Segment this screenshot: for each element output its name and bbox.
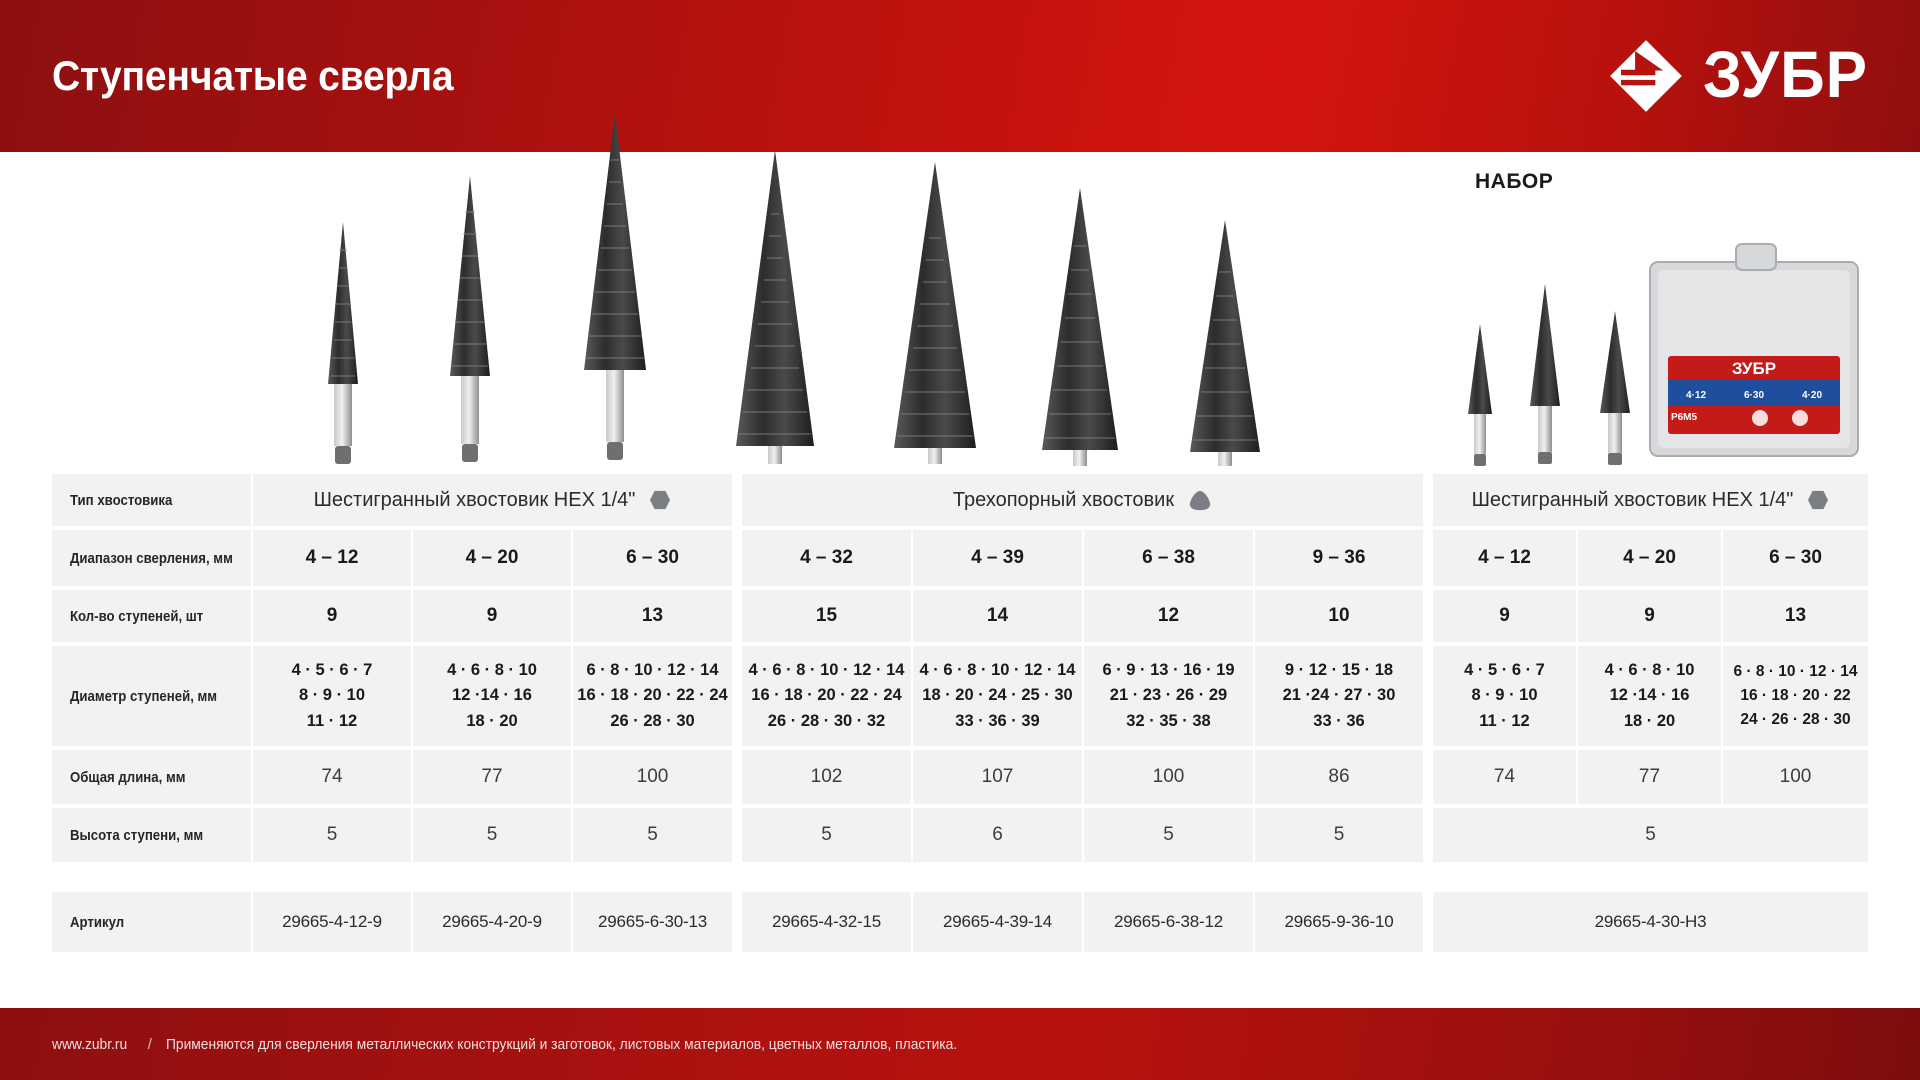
- len-r2: 77: [1578, 750, 1723, 804]
- row-drilling-range: Диапазон сверления, мм 4 – 12 4 – 20 6 –…: [52, 530, 1868, 586]
- dia-m1: 4 · 6 · 8 · 10 · 12 · 14 16 · 18 · 20 · …: [742, 646, 913, 746]
- range-m4: 9 – 36: [1255, 530, 1425, 586]
- range-l3: 6 – 30: [573, 530, 734, 586]
- range-r3: 6 – 30: [1723, 530, 1868, 586]
- footer-separator: /: [134, 1036, 166, 1053]
- page-header: Ступенчатые сверла ЗУБР: [0, 0, 1920, 152]
- drill-image-4-12: [300, 216, 386, 468]
- page-title: Ступенчатые сверла: [52, 52, 453, 100]
- drill-image-9-36: [1160, 206, 1290, 468]
- set-label: НАБОР: [1475, 170, 1553, 194]
- product-spec-sheet: Ступенчатые сверла ЗУБР: [0, 0, 1920, 1080]
- step-m2: 6: [913, 808, 1084, 862]
- step-right-merged: 5: [1433, 808, 1868, 862]
- svg-text:6·30: 6·30: [1744, 390, 1764, 401]
- row-shank-type: Тип хвостовика Шестигранный хвостовик HE…: [52, 474, 1868, 526]
- count-m2: 14: [913, 590, 1084, 642]
- specification-table: Тип хвостовика Шестигранный хвостовик HE…: [52, 474, 1868, 956]
- page-footer: www.zubr.ru / Применяются для сверления …: [0, 1008, 1920, 1080]
- count-m4: 10: [1255, 590, 1425, 642]
- hex-icon: [649, 490, 671, 510]
- set-drill-medium: [1510, 278, 1580, 468]
- count-r3: 13: [1723, 590, 1868, 642]
- shank-text-right: Шестигранный хвостовик HEX 1/4": [1472, 489, 1794, 512]
- shank-text-left: Шестигранный хвостовик HEX 1/4": [314, 489, 636, 512]
- len-m2: 107: [913, 750, 1084, 804]
- len-m1: 102: [742, 750, 913, 804]
- step-l3: 5: [573, 808, 734, 862]
- len-m3: 100: [1084, 750, 1255, 804]
- len-r1: 74: [1433, 750, 1578, 804]
- footer-note: Применяются для сверления металлических …: [166, 1036, 1026, 1053]
- drill-image-6-30: [550, 108, 680, 468]
- dia-l1: 4 · 5 · 6 · 7 8 · 9 · 10 11 · 12: [253, 646, 413, 746]
- row-overall-length: Общая длина, мм 74 77 100 102 107 100 86…: [52, 750, 1868, 804]
- dia-r1: 4 · 5 · 6 · 7 8 · 9 · 10 11 · 12: [1433, 646, 1578, 746]
- art-m1: 29665-4-32-15: [742, 892, 913, 952]
- trilobe-icon: [1188, 490, 1212, 511]
- range-r1: 4 – 12: [1433, 530, 1578, 586]
- row-step-height: Высота ступени, мм 5 5 5 5 6 5 5 5: [52, 808, 1868, 862]
- len-r3: 100: [1723, 750, 1868, 804]
- shank-value-middle: Трехопорный хвостовик: [742, 474, 1425, 526]
- art-m2: 29665-4-39-14: [913, 892, 1084, 952]
- svg-text:Р6М5: Р6М5: [1671, 412, 1698, 423]
- svg-text:4·12: 4·12: [1686, 390, 1706, 401]
- svg-text:4·20: 4·20: [1802, 390, 1822, 401]
- step-m3: 5: [1084, 808, 1255, 862]
- brand-name: ЗУБР: [1703, 45, 1868, 107]
- art-l1: 29665-4-12-9: [253, 892, 413, 952]
- range-l1: 4 – 12: [253, 530, 413, 586]
- dia-r3: 6 · 8 · 10 · 12 · 14 16 · 18 · 20 · 22 2…: [1723, 646, 1868, 746]
- step-m4: 5: [1255, 808, 1425, 862]
- shank-value-right: Шестигранный хвостовик HEX 1/4": [1433, 474, 1868, 526]
- drill-image-6-38: [1010, 178, 1150, 468]
- hex-icon: [1807, 490, 1829, 510]
- dia-l3: 6 · 8 · 10 · 12 · 14 16 · 18 · 20 · 22 ·…: [573, 646, 734, 746]
- step-l2: 5: [413, 808, 573, 862]
- zubr-diamond-icon: [1607, 37, 1685, 115]
- count-m3: 12: [1084, 590, 1255, 642]
- row-step-diameters: Диаметр ступеней, мм 4 · 5 · 6 · 7 8 · 9…: [52, 646, 1868, 746]
- drill-image-4-39: [860, 156, 1010, 468]
- art-m3: 29665-6-38-12: [1084, 892, 1255, 952]
- row-step-count: Кол-во ступеней, шт 9 9 13 15 14 12 10 9…: [52, 590, 1868, 642]
- count-r2: 9: [1578, 590, 1723, 642]
- brand-logo: ЗУБР: [1607, 37, 1868, 115]
- range-l2: 4 – 20: [413, 530, 573, 586]
- drill-image-4-20: [420, 168, 520, 468]
- row-label-step-height: Высота ступени, мм: [52, 808, 253, 862]
- range-m1: 4 – 32: [742, 530, 913, 586]
- len-l3: 100: [573, 750, 734, 804]
- art-l3: 29665-6-30-13: [573, 892, 734, 952]
- len-l2: 77: [413, 750, 573, 804]
- set-case-image: ЗУБР 4·12 6·30 4·20 Р6М5: [1640, 238, 1870, 468]
- row-article: Артикул 29665-4-12-9 29665-4-20-9 29665-…: [52, 892, 1868, 952]
- dia-m4: 9 · 12 · 15 · 18 21 ·24 · 27 · 30 33 · 3…: [1255, 646, 1425, 746]
- row-label-length: Общая длина, мм: [52, 750, 253, 804]
- step-l1: 5: [253, 808, 413, 862]
- range-r2: 4 – 20: [1578, 530, 1723, 586]
- dia-r2: 4 · 6 · 8 · 10 12 ·14 · 16 18 · 20: [1578, 646, 1723, 746]
- art-m4: 29665-9-36-10: [1255, 892, 1425, 952]
- step-m1: 5: [742, 808, 913, 862]
- footer-site[interactable]: www.zubr.ru: [52, 1036, 134, 1053]
- row-label-article: Артикул: [52, 892, 253, 952]
- len-l1: 74: [253, 750, 413, 804]
- dia-m3: 6 · 9 · 13 · 16 · 19 21 · 23 · 26 · 29 3…: [1084, 646, 1255, 746]
- count-r1: 9: [1433, 590, 1578, 642]
- row-label-count: Кол-во ступеней, шт: [52, 590, 253, 642]
- dia-l2: 4 · 6 · 8 · 10 12 ·14 · 16 18 · 20: [413, 646, 573, 746]
- dia-m2: 4 · 6 · 8 · 10 · 12 · 14 18 · 20 · 24 · …: [913, 646, 1084, 746]
- len-m4: 86: [1255, 750, 1425, 804]
- range-m3: 6 – 38: [1084, 530, 1255, 586]
- row-label-shank: Тип хвостовика: [52, 474, 253, 526]
- count-l1: 9: [253, 590, 413, 642]
- art-right-merged: 29665-4-30-Н3: [1433, 892, 1868, 952]
- count-l2: 9: [413, 590, 573, 642]
- shank-text-middle: Трехопорный хвостовик: [953, 489, 1174, 512]
- count-m1: 15: [742, 590, 913, 642]
- row-label-diameters: Диаметр ступеней, мм: [52, 646, 253, 746]
- product-image-strip: НАБОР ЗУБР 4·12 6·30 4·20 Р6М5: [0, 152, 1920, 474]
- row-label-range: Диапазон сверления, мм: [52, 530, 253, 586]
- count-l3: 13: [573, 590, 734, 642]
- svg-text:ЗУБР: ЗУБР: [1732, 359, 1776, 378]
- art-l2: 29665-4-20-9: [413, 892, 573, 952]
- range-m2: 4 – 39: [913, 530, 1084, 586]
- shank-value-left: Шестигранный хвостовик HEX 1/4": [253, 474, 734, 526]
- set-drill-small: [1450, 318, 1510, 468]
- drill-image-4-32: [700, 146, 850, 468]
